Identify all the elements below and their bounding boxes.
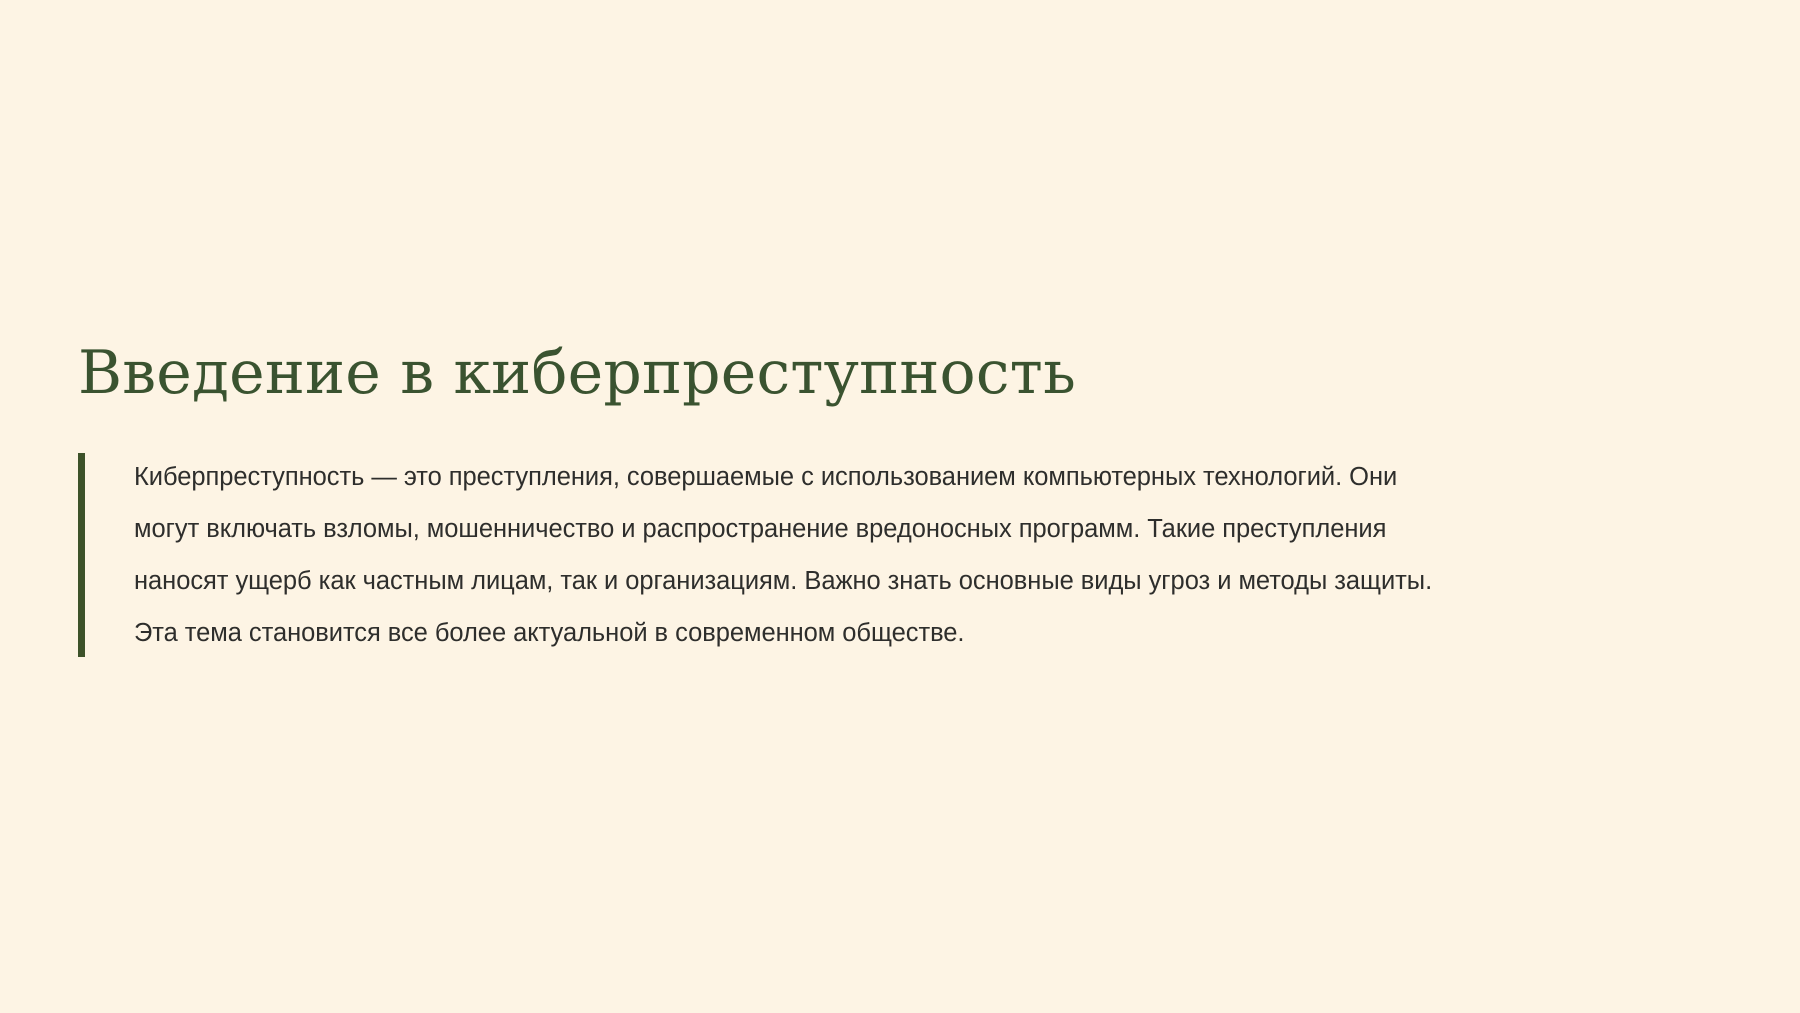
body-paragraph: Киберпреступность — это преступления, со… [134,451,1718,659]
quote-block: Киберпреступность — это преступления, со… [78,451,1718,659]
page-title: Введение в киберпреступность [78,340,1718,407]
paragraph-line: Киберпреступность — это преступления, со… [134,451,1718,503]
paragraph-line: могут включать взломы, мошенничество и р… [134,503,1718,555]
slide-canvas: Введение в киберпреступность Киберпресту… [0,0,1800,1013]
accent-bar [78,453,85,657]
paragraph-line: Эта тема становится все более актуальной… [134,607,1718,659]
paragraph-line: наносят ущерб как частным лицам, так и о… [134,555,1718,607]
slide-content: Введение в киберпреступность Киберпресту… [78,340,1718,659]
